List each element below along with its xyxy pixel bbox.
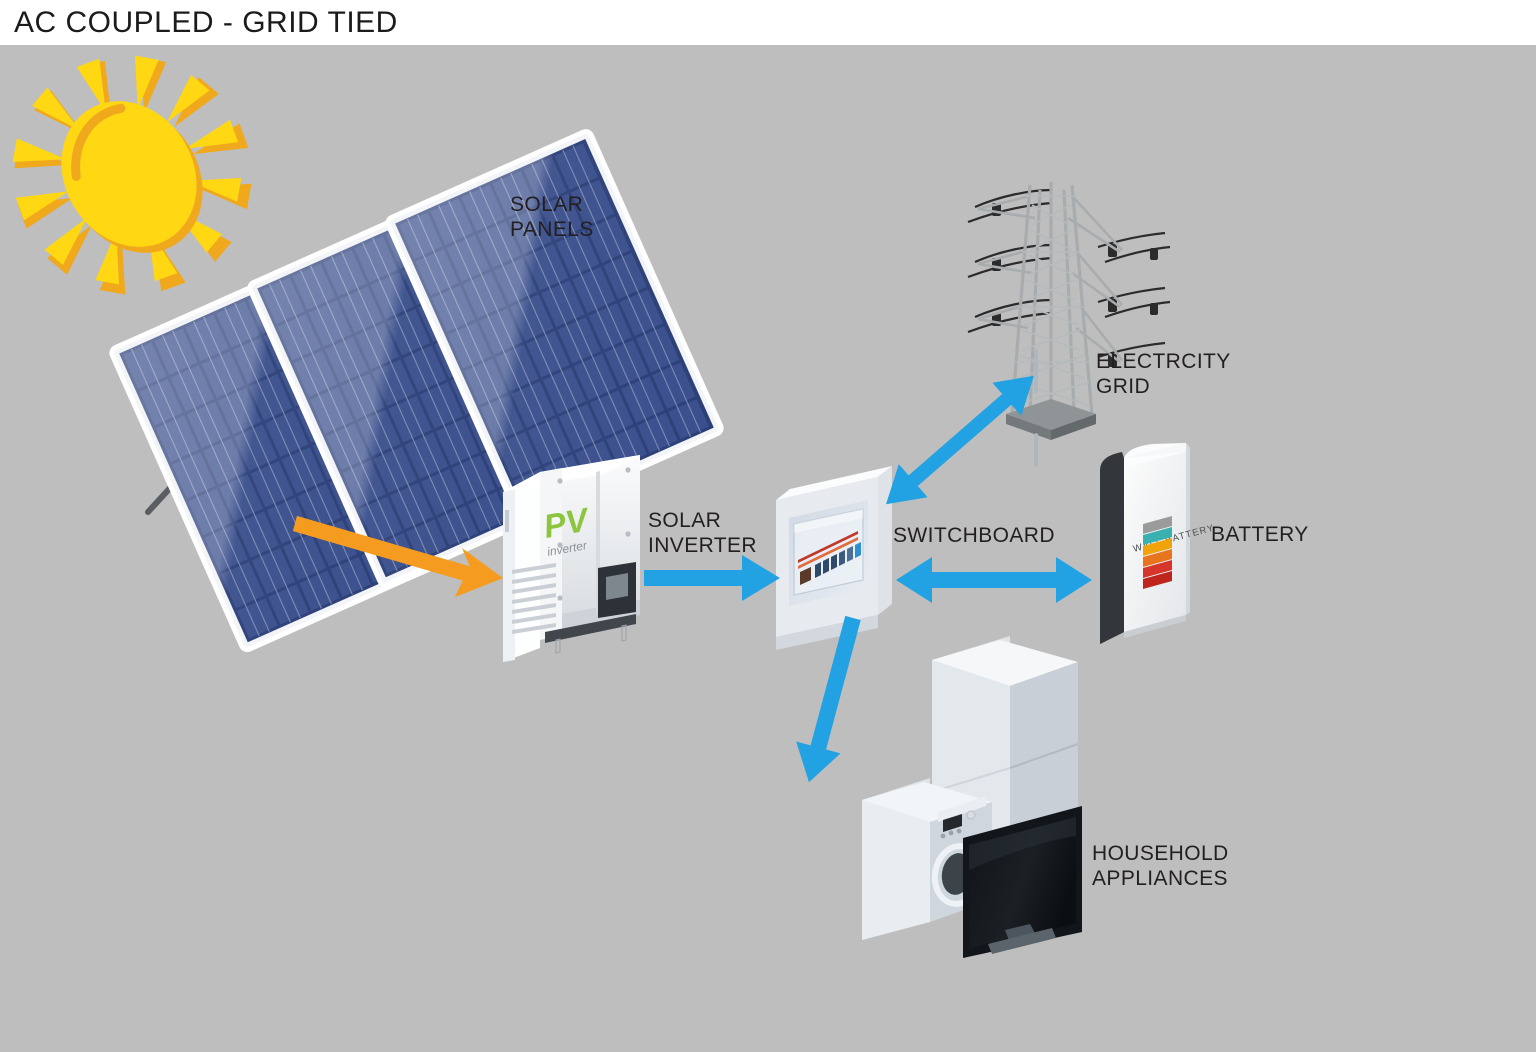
label-household-appliances: HOUSEHOLD APPLIANCES [1092, 841, 1229, 891]
diagram-stage: AC COUPLED - GRID TIED [0, 0, 1536, 1052]
label-battery: BATTERY [1211, 522, 1309, 547]
label-switchboard: SWITCHBOARD [893, 523, 1055, 548]
switchboard [776, 466, 892, 650]
household-appliances [862, 349, 1082, 958]
arrow-switchboard-to-battery [896, 557, 1092, 603]
label-solar-panels: SOLAR PANELS [510, 192, 594, 242]
arrow-switchboard-to-grid [872, 359, 1049, 521]
label-solar-inverter: SOLAR INVERTER [648, 508, 757, 558]
arrow-inverter-to-switchboard [644, 555, 780, 601]
wall-battery: WALL BATTERY [1100, 443, 1216, 644]
sun-icon [0, 24, 284, 327]
label-electricity-grid: ELECTRCITY GRID [1096, 349, 1231, 399]
solar-inverter: PV inverter [503, 455, 640, 662]
